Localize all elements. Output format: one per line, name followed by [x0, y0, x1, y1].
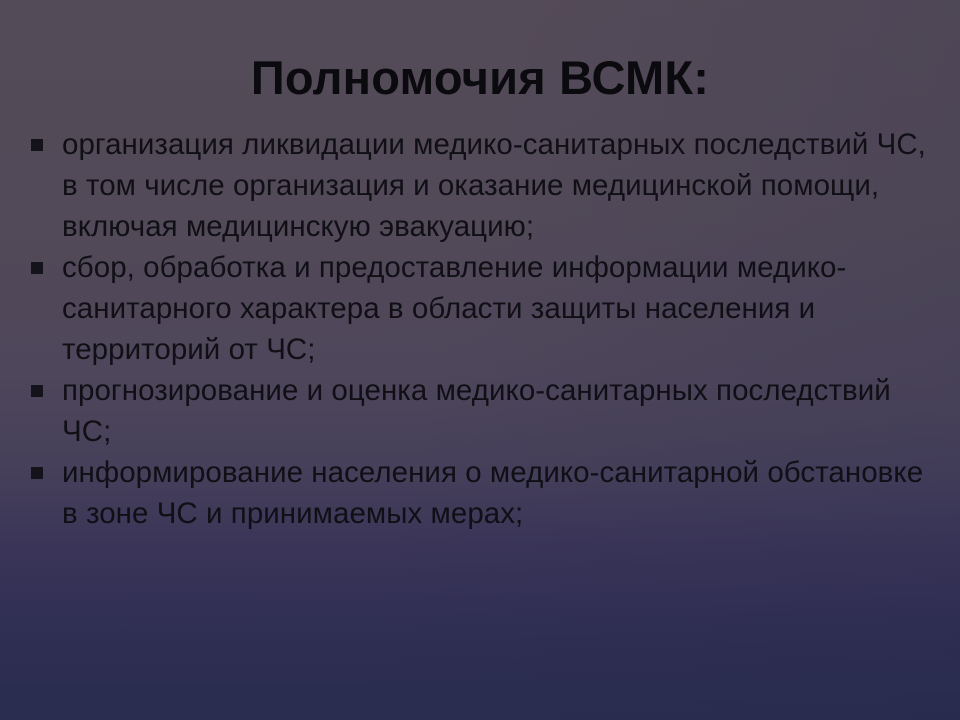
square-bullet-icon — [31, 262, 43, 274]
square-bullet-icon — [31, 139, 43, 151]
page-title: Полномочия ВСМК: — [0, 53, 960, 104]
list-item-label: сбор, обработка и предоставление информа… — [62, 247, 938, 370]
list-item-label: информирование населения о медико-санита… — [62, 452, 938, 534]
list-item: организация ликвидации медико-санитарных… — [26, 124, 938, 247]
slide-canvas: Полномочия ВСМК: организация ликвидации … — [0, 0, 960, 720]
square-bullet-icon — [31, 385, 43, 397]
square-bullet-icon — [31, 467, 43, 479]
list-item-label: прогнозирование и оценка медико-санитарн… — [62, 370, 938, 452]
list-item-label: организация ликвидации медико-санитарных… — [62, 124, 938, 247]
list-item: сбор, обработка и предоставление информа… — [26, 247, 938, 370]
bullet-list: организация ликвидации медико-санитарных… — [26, 124, 938, 534]
list-item: информирование населения о медико-санита… — [26, 452, 938, 534]
list-item: прогнозирование и оценка медико-санитарн… — [26, 370, 938, 452]
